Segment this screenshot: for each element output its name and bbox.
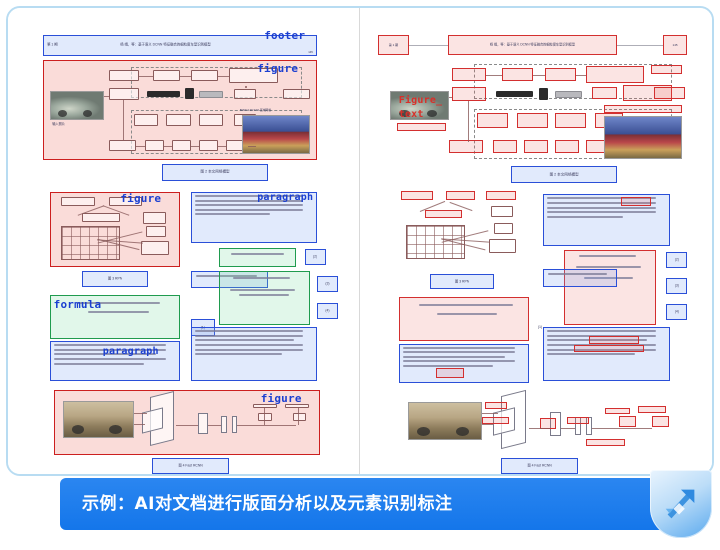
figure4-diagram — [55, 391, 320, 454]
element-node-seq-2[interactable] — [493, 140, 518, 153]
header-left-text-r: 第 1 期 — [389, 43, 398, 47]
figure-region-network-model[interactable]: 输入照片 — [43, 60, 317, 160]
paragraph-left-lines-r — [400, 345, 528, 383]
node-feat-b1 — [134, 114, 158, 126]
node-fc — [191, 70, 218, 81]
node-seq-3 — [172, 140, 191, 151]
element-4k-coords[interactable] — [446, 191, 475, 200]
anchor-box-1 — [143, 212, 166, 224]
node-seq-2 — [145, 140, 164, 151]
caption-fig4-text-r: 图 4 Fast RCNN — [527, 463, 552, 468]
node-feat-b2 — [166, 114, 190, 126]
paragraph-region-right-bottom-r[interactable] — [543, 327, 670, 381]
inline-text-lines-r — [544, 270, 616, 286]
eq-num-2-text-r: (2) — [675, 258, 679, 263]
caption-fig2-text-r: 图 2 本文网络模型 — [550, 172, 579, 177]
eq-num-4-text: (4) — [325, 309, 329, 314]
node-preprocess — [109, 70, 139, 81]
paragraph-left-lines — [51, 342, 179, 380]
node-bbox-out4 — [285, 404, 309, 408]
element-node-preprocess[interactable] — [452, 68, 486, 80]
node-roi-pool — [153, 70, 180, 81]
node-seq-1 — [109, 140, 136, 151]
equation-number-2-r[interactable]: (2) — [666, 252, 687, 268]
arrow-glyph-icon — [660, 482, 702, 526]
roi-pool-column — [198, 413, 209, 434]
header-right-element[interactable]: 145 — [663, 35, 688, 55]
inline-text-region-r[interactable] — [543, 269, 617, 287]
element-node-region-tag[interactable] — [651, 65, 682, 73]
figure4-elements-group — [402, 390, 677, 458]
anchor-box-2 — [146, 226, 166, 237]
formula-region-3[interactable] — [219, 271, 310, 325]
element-fc-small-2[interactable] — [652, 416, 668, 427]
node-conv-dark-r — [496, 91, 533, 97]
node-256d — [82, 213, 120, 222]
input-car-photo — [50, 91, 104, 120]
paragraph-right-lines-2 — [192, 328, 316, 380]
paragraph-region-right-bottom[interactable] — [191, 327, 317, 381]
caption-fig4-region-r[interactable]: 图 4 Fast RCNN — [501, 458, 578, 474]
figure3-elements-group — [395, 190, 529, 269]
node-fc-small-2 — [293, 413, 306, 422]
caption-fig4-text: 图 4 Fast RCNN — [178, 463, 203, 468]
element-dcnn-label[interactable] — [485, 402, 507, 409]
document-page-right: 第 1 期 杨 娟，等：基于语义 DCNN 特征融合的细粒度车型识别模型 145 — [360, 8, 712, 474]
element-node-fc[interactable] — [545, 68, 576, 80]
caption-fig2-region[interactable]: 图 2 本文网络模型 — [162, 164, 267, 181]
header-rule-left — [409, 45, 448, 46]
header-right-text: 145 — [308, 50, 313, 54]
node-2k-scores — [61, 197, 94, 206]
caption-fig4-region[interactable]: 图 4 Fast RCNN — [152, 458, 229, 474]
eq-num-3-text: (3) — [325, 282, 329, 287]
element-fc-small-1[interactable] — [619, 416, 635, 427]
element-node-seq-3[interactable] — [524, 140, 549, 153]
header-center-text-r: 杨 娟，等：基于语义 DCNN 特征融合的细粒度车型识别模型 — [490, 42, 575, 47]
element-node-seq-4[interactable] — [555, 140, 580, 153]
element-anchor-tag[interactable] — [486, 191, 515, 200]
element-bbox-label[interactable] — [638, 406, 665, 413]
element-node-feat-b1[interactable] — [477, 113, 508, 127]
formula-3-body — [220, 272, 309, 324]
element-roi-vector-label[interactable] — [586, 439, 624, 446]
anchor-box-3-r — [489, 239, 516, 253]
element-inline-symbol-2[interactable] — [589, 336, 639, 343]
element-input-photo-caption[interactable] — [397, 123, 447, 131]
element-inline-symbol-3[interactable] — [574, 345, 644, 352]
node-softmax-out4 — [253, 404, 277, 408]
eq-num-2-text: (2) — [313, 255, 317, 260]
fc-column-1 — [221, 416, 226, 432]
node-4k-coords — [109, 197, 142, 206]
node-conv-gray — [199, 91, 223, 98]
equation-number-4-r[interactable]: (4) — [666, 304, 687, 320]
fastrcnn-car-photo-r — [408, 402, 482, 440]
element-node-rpn[interactable] — [592, 87, 617, 99]
paragraph-region-left-bottom[interactable] — [50, 341, 180, 381]
result-tag-text: BMW 3 99.97% 区域网格 — [240, 108, 271, 112]
fastrcnn-car-photo — [63, 401, 134, 438]
node-conv-gray-r — [555, 91, 583, 98]
equation-number-2[interactable]: (2) — [305, 249, 326, 265]
header-rule-right — [617, 45, 663, 46]
node-seq-4 — [199, 140, 218, 151]
anchor-box-2-r — [494, 223, 513, 234]
element-node-feat-b2[interactable] — [517, 113, 548, 127]
element-node-softmax-out[interactable] — [586, 66, 645, 82]
header-right-text-r: 145 — [673, 43, 678, 47]
formula-region-2[interactable] — [219, 248, 296, 268]
eq-num-1-text-r: (1) — [538, 325, 542, 330]
equation-number-3-r[interactable]: (3) — [666, 278, 687, 294]
bottom-banner: 示例：AI对文档进行版面分析以及元素识别标注 — [60, 478, 660, 530]
equation-number-4[interactable]: (4) — [317, 303, 338, 319]
input-photo-caption: 输入照片 — [52, 122, 65, 127]
element-2k-scores[interactable] — [401, 191, 433, 200]
input-car-photo-r — [390, 91, 449, 120]
element-roi-label[interactable] — [482, 417, 509, 424]
result-car-photo — [242, 115, 310, 154]
element-softmax-label[interactable] — [605, 408, 630, 415]
result-car-photo-r — [604, 116, 681, 159]
node-fc-small-1 — [258, 413, 271, 422]
paragraph-region-left-bottom-r[interactable] — [399, 344, 529, 384]
node-softmax-cls — [245, 86, 247, 88]
node-feature-a — [109, 88, 139, 101]
footer-region[interactable]: 第 1 期 杨 娟，等：基于语义 DCNN 特征融合的细粒度车型识别模型 145 — [43, 35, 317, 56]
caption-fig2-text: 图 2 本文网络模型 — [201, 170, 230, 175]
layout-analysis-panel[interactable]: 第 1 期 杨 娟，等：基于语义 DCNN 特征融合的细粒度车型识别模型 145… — [8, 8, 360, 474]
caption-fig3-text: 图 3 RPN — [108, 277, 122, 282]
header-center-text: 杨 娟，等：基于语义 DCNN 特征融合的细粒度车型识别模型 — [120, 43, 211, 48]
caption-fig3-region[interactable]: 图 3 RPN — [82, 271, 149, 287]
figure2-diagram: 输入照片 — [44, 61, 316, 159]
header-left-text: 第 1 期 — [47, 43, 58, 48]
paragraph-region-right-top-r[interactable] — [543, 194, 670, 245]
formula-2-body — [220, 249, 295, 267]
element-formula-2[interactable] — [564, 250, 656, 325]
formula-1-body — [51, 296, 179, 338]
formula-region-1[interactable] — [50, 295, 180, 339]
element-inline-symbol-1[interactable] — [621, 197, 651, 205]
node-softmax-out — [229, 68, 278, 83]
figure2-elements-group — [381, 60, 691, 163]
paragraph-right-lines-1 — [192, 193, 316, 242]
anchor-box-3 — [141, 241, 169, 255]
paragraph-region-right-top[interactable] — [191, 192, 317, 243]
element-node-roi-pool[interactable] — [502, 68, 533, 80]
element-result-tag[interactable] — [604, 105, 681, 113]
caption-fig2-region-r[interactable]: 图 2 本文网络模型 — [511, 166, 617, 183]
element-formula-1[interactable] — [399, 297, 529, 341]
node-fast-rcnn — [283, 89, 310, 100]
slide-card: 第 1 期 杨 娟，等：基于语义 DCNN 特征融合的细粒度车型识别模型 145… — [6, 6, 714, 476]
figure3-diagram — [51, 193, 179, 266]
brand-shield-logo — [650, 470, 712, 538]
equation-number-3[interactable]: (3) — [317, 276, 338, 292]
element-node-seq-1[interactable] — [449, 140, 483, 153]
anchor-box-1-r — [491, 206, 512, 217]
element-256d[interactable] — [425, 210, 462, 219]
node-conv-dark2 — [185, 88, 193, 100]
element-node-feat-b3[interactable] — [555, 113, 586, 127]
eq-num-3-text-r: (3) — [675, 284, 679, 289]
document-page-left: 第 1 期 杨 娟，等：基于语义 DCNN 特征融合的细粒度车型识别模型 145… — [8, 8, 359, 474]
element-node-fast-rcnn[interactable] — [654, 87, 685, 99]
header-center-element[interactable]: 杨 娟，等：基于语义 DCNN 特征融合的细粒度车型识别模型 — [448, 35, 617, 55]
figure-region-fast-rcnn[interactable] — [54, 390, 321, 455]
node-conv-dark — [147, 91, 180, 97]
element-fc-layer-label[interactable] — [567, 417, 589, 424]
figure-region-rpn[interactable] — [50, 192, 180, 267]
element-node-feature-a[interactable] — [452, 87, 486, 101]
comparison-panels: 第 1 期 杨 娟，等：基于语义 DCNN 特征融合的细粒度车型识别模型 145… — [8, 8, 712, 474]
caption-fig3-region-r[interactable]: 图 3 RPN — [430, 274, 493, 290]
element-inline-symbol-4[interactable] — [436, 368, 464, 378]
node-feat-b3 — [199, 114, 223, 126]
header-left-element[interactable]: 第 1 期 — [378, 35, 410, 55]
caption-fig3-text-r: 图 3 RPN — [455, 279, 469, 284]
formula-2-body-r — [565, 251, 655, 324]
node-rpn — [234, 89, 256, 100]
banner-caption: 示例：AI对文档进行版面分析以及元素识别标注 — [82, 478, 452, 530]
node-conv-dark2-r — [539, 88, 548, 100]
formula-1-body-r — [400, 298, 528, 340]
eq-num-4-text-r: (4) — [675, 309, 679, 314]
element-recognition-panel[interactable]: 第 1 期 杨 娟，等：基于语义 DCNN 特征融合的细粒度车型识别模型 145 — [360, 8, 712, 474]
